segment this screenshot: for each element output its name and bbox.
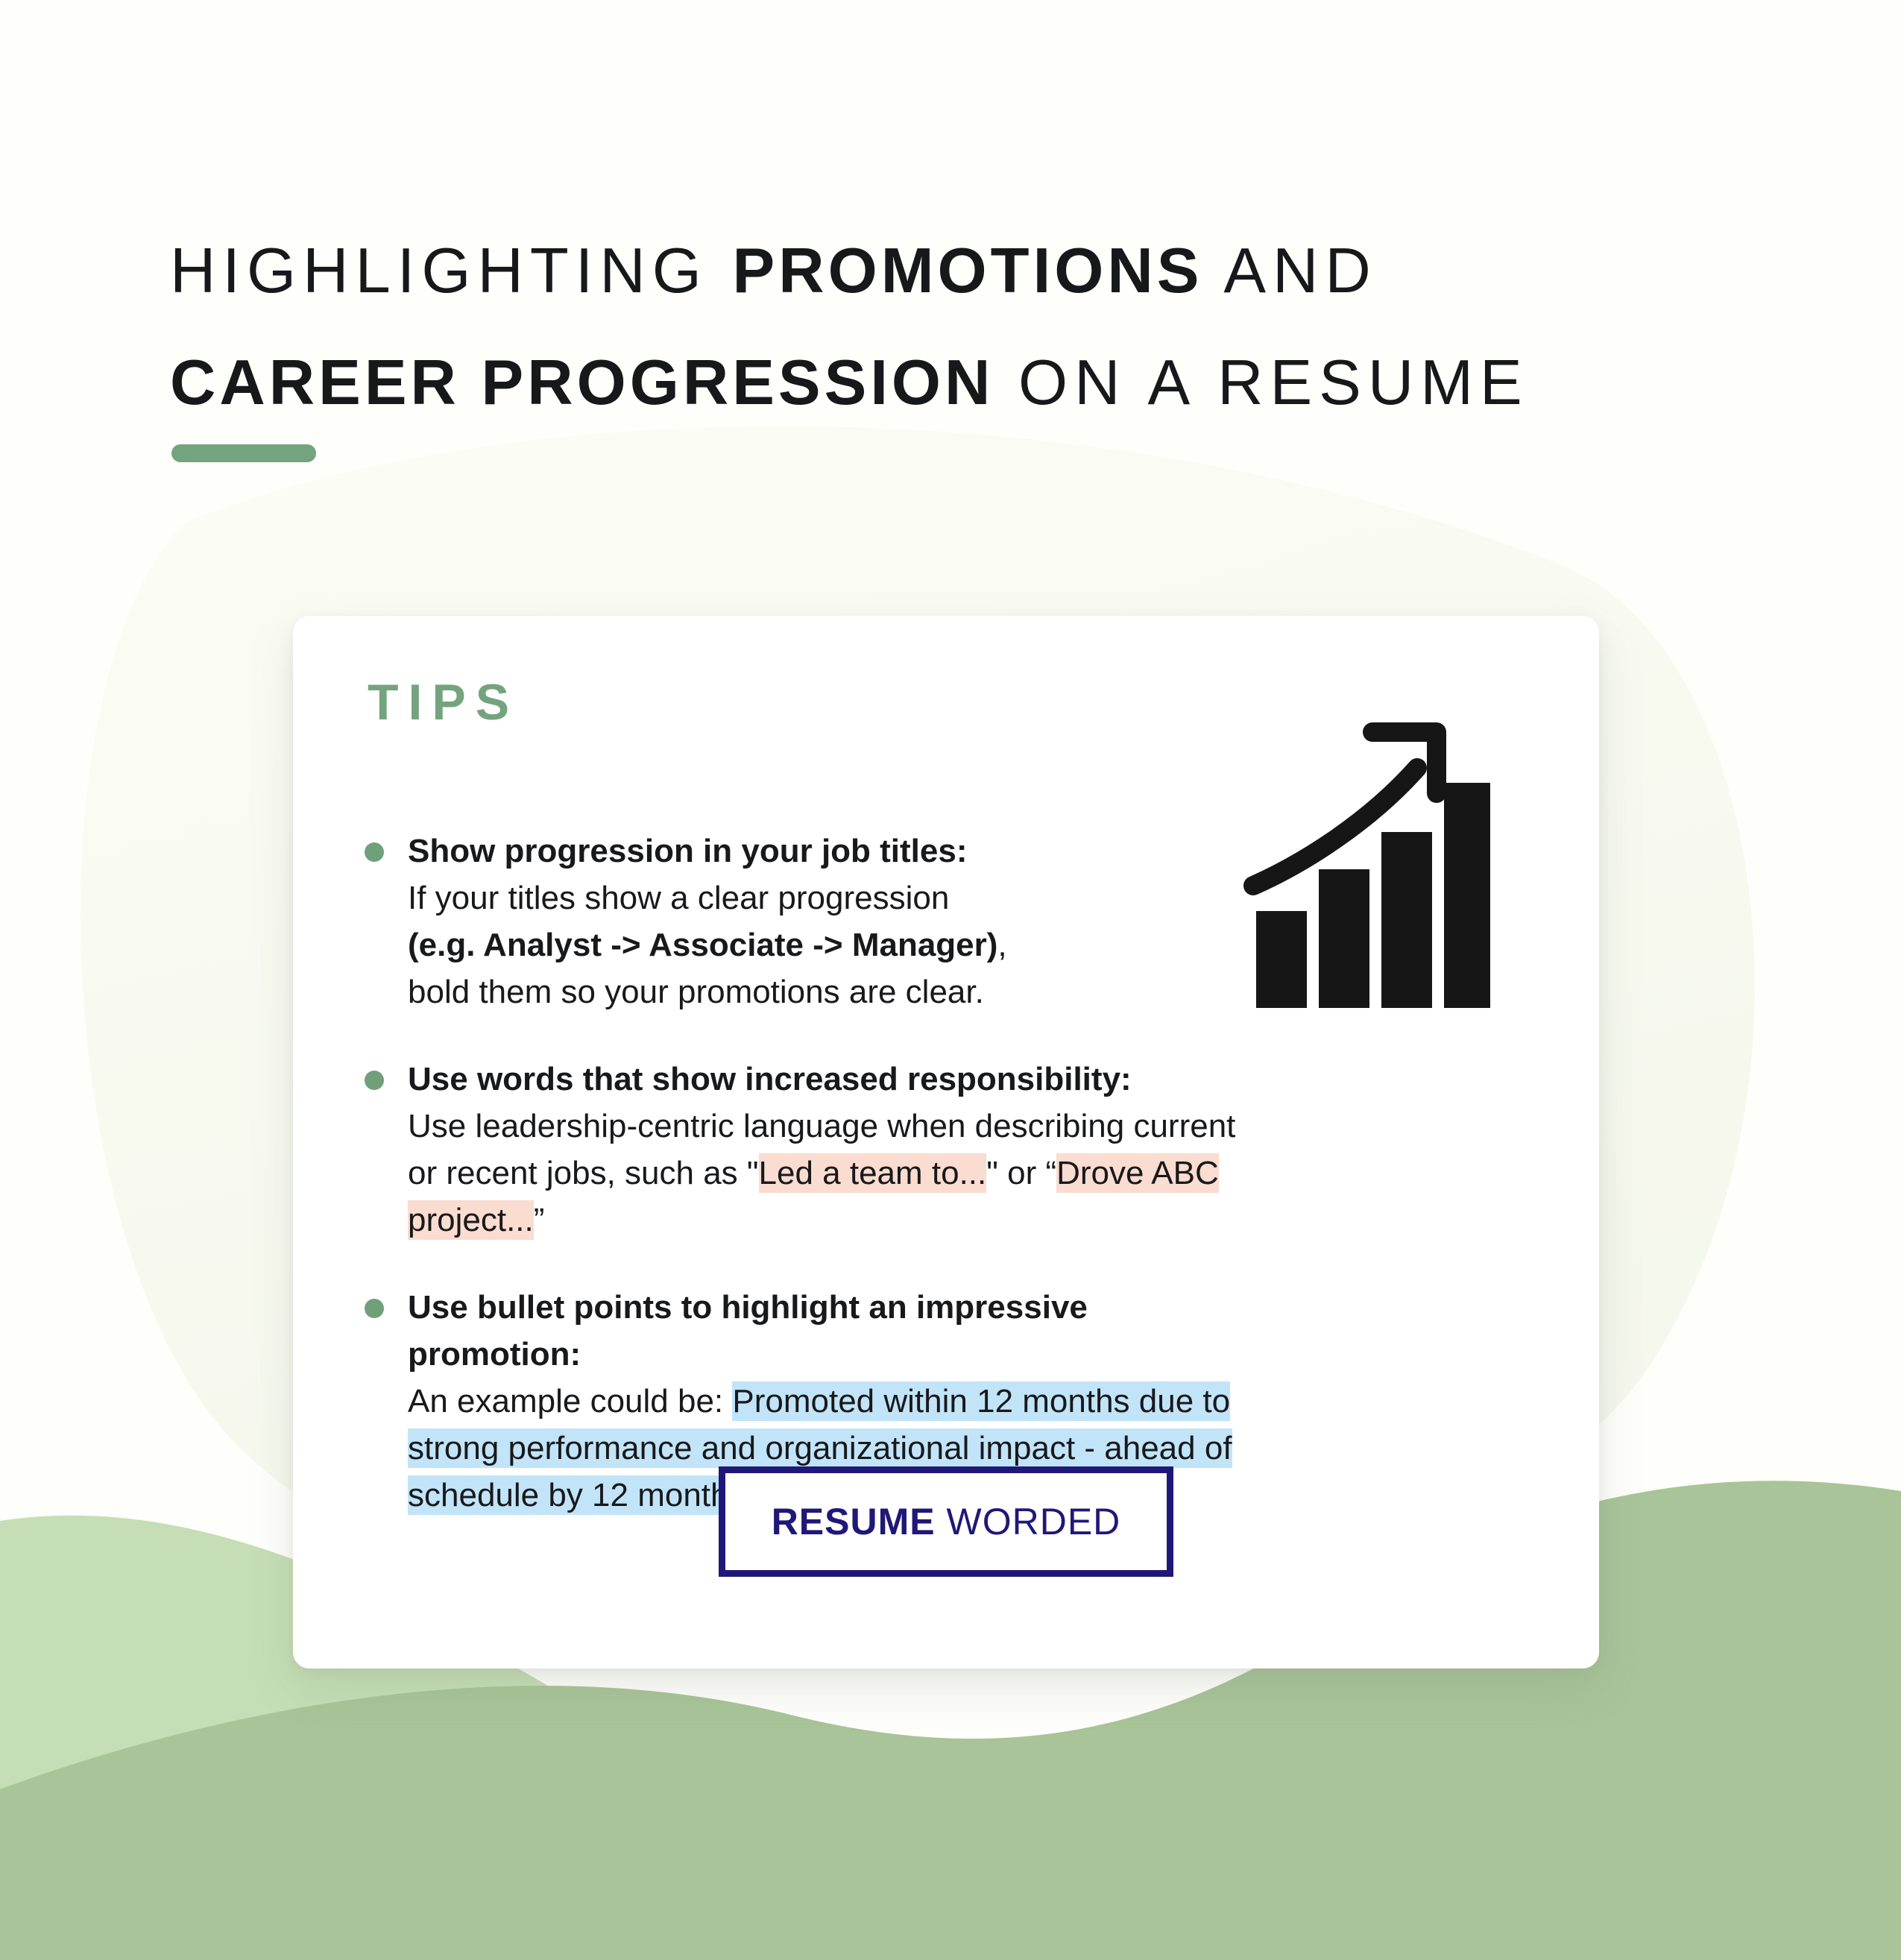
- tip-3-body-before: An example could be:: [408, 1383, 732, 1419]
- tip-item-2: Use words that show increased responsibi…: [365, 1056, 1244, 1244]
- page-title-bold-2: CAREER PROGRESSION: [170, 347, 994, 418]
- tip-1-line-3: bold them so your promotions are clear.: [408, 974, 984, 1010]
- tip-2-heading: Use words that show increased responsibi…: [408, 1061, 1132, 1097]
- bullet-dot-icon: [365, 1299, 384, 1318]
- brand-button-label-regular: WORDED: [936, 1501, 1121, 1543]
- tip-2-highlight-1: Led a team to...: [759, 1153, 987, 1193]
- growth-bar-chart-arrow-icon: [1240, 716, 1493, 1014]
- tip-2-body-after: ”: [534, 1202, 545, 1238]
- page-title: HIGHLIGHTING PROMOTIONS AND CAREER PROGR…: [170, 215, 1773, 439]
- brand-button-label-strong: RESUME: [772, 1501, 936, 1543]
- tip-2-body-middle: " or “: [986, 1155, 1056, 1191]
- title-accent-dash: [171, 444, 316, 462]
- tips-heading: TIPS: [368, 677, 519, 728]
- tip-1-body: Show progression in your job titles: If …: [408, 828, 1244, 1015]
- tips-list: Show progression in your job titles: If …: [365, 828, 1244, 1519]
- page-title-line-1: HIGHLIGHTING PROMOTIONS AND: [170, 215, 1773, 327]
- page-title-light-3: ON A RESUME: [994, 347, 1528, 418]
- page-title-light-1: HIGHLIGHTING: [170, 236, 733, 306]
- page-title-line-2: CAREER PROGRESSION ON A RESUME: [170, 327, 1773, 439]
- bullet-dot-icon: [365, 1071, 384, 1090]
- tips-card: TIPS Show progression in your job titles…: [293, 616, 1599, 1668]
- tip-2-body: Use words that show increased responsibi…: [408, 1056, 1244, 1244]
- page-title-bold-1: PROMOTIONS: [733, 236, 1203, 306]
- resume-worded-button[interactable]: RESUME WORDED: [719, 1466, 1173, 1577]
- tip-item-1: Show progression in your job titles: If …: [365, 828, 1244, 1015]
- tip-1-bold-example: (e.g. Analyst -> Associate -> Manager): [408, 927, 997, 963]
- tip-3-heading: Use bullet points to highlight an impres…: [408, 1289, 1088, 1373]
- tip-1-heading: Show progression in your job titles:: [408, 833, 968, 869]
- bullet-dot-icon: [365, 842, 384, 862]
- brand-button-label: RESUME WORDED: [772, 1500, 1121, 1543]
- tip-1-line-1: If your titles show a clear progression: [408, 880, 949, 916]
- page-title-light-2: AND: [1202, 236, 1377, 306]
- tip-1-after-bold: ,: [997, 927, 1006, 963]
